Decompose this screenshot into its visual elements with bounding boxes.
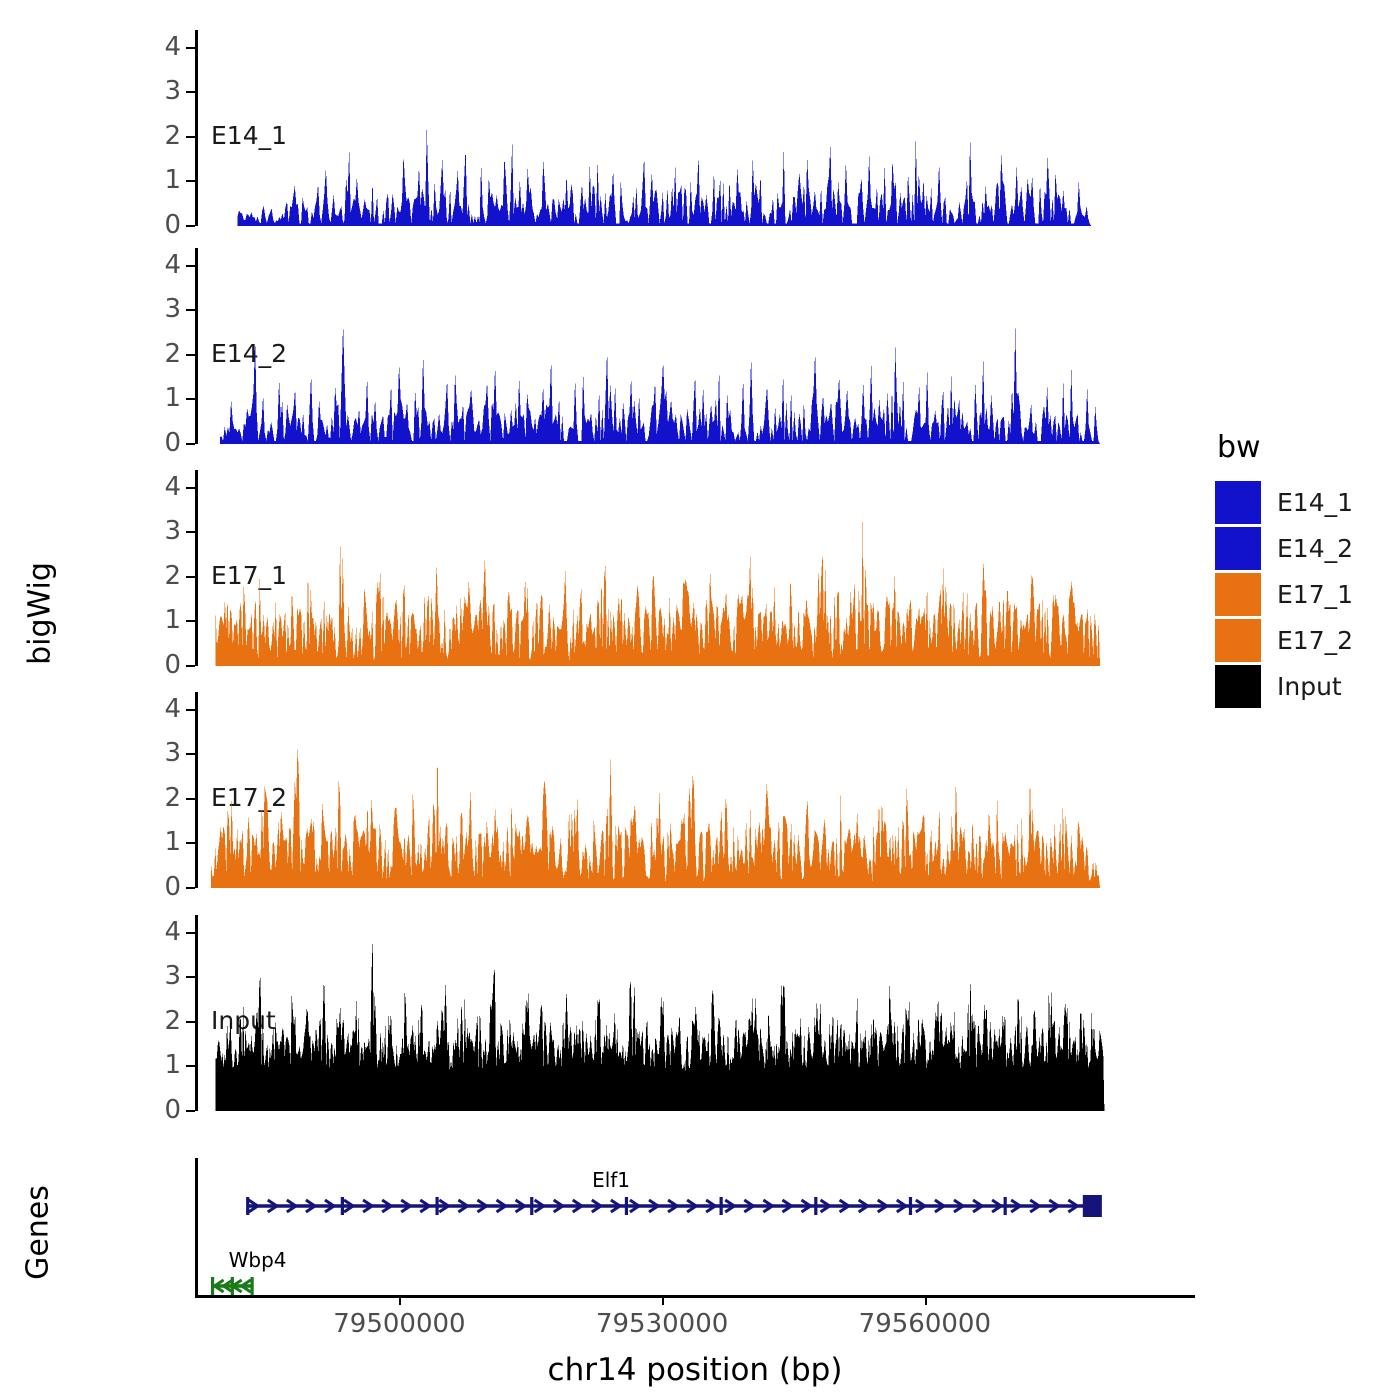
y-axis-tick-label: 1 <box>149 607 181 633</box>
legend-swatch-e17_1 <box>1215 573 1261 616</box>
y-axis-tick <box>186 576 195 578</box>
legend-swatch-e17_2 <box>1215 619 1261 662</box>
gene-exon-tick <box>231 1277 234 1295</box>
y-axis-tick <box>186 398 195 400</box>
track-panel-e14_2: 01234E14_2 <box>195 248 1135 444</box>
y-axis-tick <box>186 887 195 889</box>
y-axis-tick-label: 0 <box>149 430 181 456</box>
y-axis-tick-label: 2 <box>149 1008 181 1034</box>
signal-area-e14_1 <box>237 128 1091 226</box>
y-axis-tick <box>186 225 195 227</box>
gene-label-elf1: Elf1 <box>592 1168 630 1192</box>
y-axis-tick <box>186 932 195 934</box>
y-axis-tick <box>186 180 195 182</box>
y-axis-tick-label: 4 <box>149 696 181 722</box>
y-axis-tick <box>186 709 195 711</box>
legend-item-input[interactable]: Input <box>1215 663 1353 709</box>
y-axis-tick-label: 1 <box>149 829 181 855</box>
y-axis-tick-label: 4 <box>149 34 181 60</box>
legend-swatch-e14_2 <box>1215 527 1261 570</box>
y-axis-tick <box>186 309 195 311</box>
x-axis-line <box>195 1295 1195 1298</box>
gene-exon-tick <box>250 1277 253 1295</box>
y-axis-tick <box>186 753 195 755</box>
y-axis-tick-label: 3 <box>149 518 181 544</box>
signal-area-e14_2 <box>220 324 1100 444</box>
gene-exon-tick <box>341 1197 344 1215</box>
y-axis-tick-label: 4 <box>149 252 181 278</box>
y-axis-tick-label: 1 <box>149 167 181 193</box>
y-axis-tick <box>186 47 195 49</box>
x-axis-tick <box>925 1295 927 1305</box>
y-axis-tick <box>186 798 195 800</box>
y-axis-tick <box>186 443 195 445</box>
y-axis-tick-label: 0 <box>149 1097 181 1123</box>
y-axis-tick-label: 4 <box>149 919 181 945</box>
y-axis-tick <box>186 1110 195 1112</box>
legend-label-e17_1: E17_1 <box>1277 580 1353 609</box>
legend-item-e17_1[interactable]: E17_1 <box>1215 571 1353 617</box>
legend-title: bw <box>1217 430 1353 465</box>
legend-label-e14_1: E14_1 <box>1277 488 1353 517</box>
gene-exon-tick <box>720 1197 723 1215</box>
gene-track-wbp4[interactable]: Wbp4 <box>195 1266 1135 1306</box>
legend-label-e17_2: E17_2 <box>1277 626 1353 655</box>
x-axis-tick-label: 79500000 <box>333 1309 465 1339</box>
legend-item-e14_1[interactable]: E14_1 <box>1215 479 1353 525</box>
y-axis-tick-label: 2 <box>149 341 181 367</box>
track-panel-e17_1: 01234E17_1 <box>195 470 1135 666</box>
track-plot-area <box>198 470 1135 666</box>
legend-swatch-e14_1 <box>1215 481 1261 524</box>
y-axis-tick-label: 2 <box>149 123 181 149</box>
y-axis-tick-label: 0 <box>149 874 181 900</box>
legend-label-e14_2: E14_2 <box>1277 534 1353 563</box>
signal-area-e17_2 <box>211 746 1100 889</box>
y-axis-tick-label: 0 <box>149 212 181 238</box>
gene-exon-tick <box>909 1197 912 1215</box>
y-axis-tick-label: 3 <box>149 740 181 766</box>
gene-label-wbp4: Wbp4 <box>229 1248 287 1272</box>
track-plot-area <box>198 692 1135 888</box>
track-plot-area <box>198 30 1135 226</box>
signal-area-input <box>216 933 1105 1111</box>
x-axis-tick <box>662 1295 664 1305</box>
x-axis-tick <box>399 1295 401 1305</box>
y-axis-tick-label: 3 <box>149 78 181 104</box>
y-axis-tick <box>186 354 195 356</box>
y-axis-tick <box>186 91 195 93</box>
gene-exon-tick <box>246 1197 249 1215</box>
track-plot-area <box>198 248 1135 444</box>
track-plot-area <box>198 915 1135 1111</box>
y-axis-tick <box>186 1065 195 1067</box>
y-axis-tick <box>186 136 195 138</box>
y-axis-title-bigwig: bigWig <box>23 514 58 714</box>
y-axis-tick-label: 4 <box>149 474 181 500</box>
y-axis-tick <box>186 531 195 533</box>
gene-track-elf1[interactable]: Elf1 <box>195 1186 1135 1226</box>
y-axis-tick-label: 1 <box>149 385 181 411</box>
y-axis-tick-label: 1 <box>149 1052 181 1078</box>
y-axis-tick-label: 0 <box>149 652 181 678</box>
y-axis-tick-label: 2 <box>149 785 181 811</box>
y-axis-tick <box>186 487 195 489</box>
y-axis-tick <box>186 842 195 844</box>
legend: bw E14_1E14_2E17_1E17_2Input <box>1215 430 1353 709</box>
y-axis-tick-label: 2 <box>149 563 181 589</box>
y-axis-tick-label: 3 <box>149 963 181 989</box>
y-axis-tick <box>186 665 195 667</box>
x-axis-tick-label: 79560000 <box>859 1309 991 1339</box>
track-panel-e17_2: 01234E17_2 <box>195 692 1135 888</box>
gene-exon-tick <box>1004 1197 1007 1215</box>
x-axis-title: chr14 position (bp) <box>195 1352 1195 1388</box>
gene-exon-tick <box>435 1197 438 1215</box>
legend-item-e14_2[interactable]: E14_2 <box>1215 525 1353 571</box>
genes-panel: Elf1Wbp4 <box>195 1158 1135 1295</box>
y-axis-tick <box>186 265 195 267</box>
gene-exon-tick <box>625 1197 628 1215</box>
gene-exon-tick <box>814 1197 817 1215</box>
track-panel-input: 01234Input <box>195 915 1135 1111</box>
legend-swatch-input <box>1215 665 1261 708</box>
legend-label-input: Input <box>1277 672 1342 701</box>
x-axis-tick-label: 79530000 <box>596 1309 728 1339</box>
gene-exon-tick <box>211 1277 214 1295</box>
legend-items: E14_1E14_2E17_1E17_2Input <box>1215 479 1353 709</box>
y-axis-title-genes: Genes <box>21 1133 56 1333</box>
y-axis-tick-label: 3 <box>149 296 181 322</box>
legend-item-e17_2[interactable]: E17_2 <box>1215 617 1353 663</box>
signal-area-e17_1 <box>216 519 1101 666</box>
track-panel-e14_1: 01234E14_1 <box>195 30 1135 226</box>
gene-terminal-exon <box>1083 1195 1102 1217</box>
gene-exon-tick <box>530 1197 533 1215</box>
y-axis-tick <box>186 976 195 978</box>
y-axis-tick <box>186 620 195 622</box>
y-axis-tick <box>186 1021 195 1023</box>
